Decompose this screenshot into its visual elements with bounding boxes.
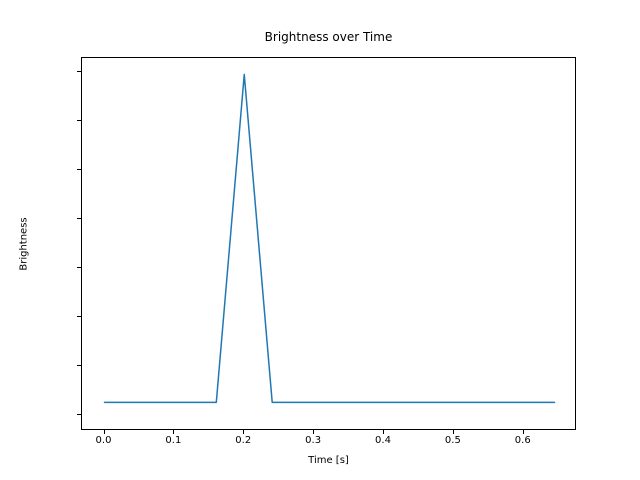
x-tick-label: 0.0 [74,436,134,446]
x-tick-label: 0.6 [493,436,553,446]
plot-area [81,57,576,430]
x-tick-mark [313,430,314,434]
x-tick-label: 0.5 [423,436,483,446]
x-axis-label: Time [s] [81,455,576,467]
x-tick-mark [383,430,384,434]
x-tick-mark [523,430,524,434]
y-axis-label: Brightness [17,58,33,431]
chart-title: Brightness over Time [81,30,576,44]
line-series-svg [82,58,577,431]
x-tick-mark [453,430,454,434]
chart-figure: Brightness over Time Brightness Time [s]… [0,0,640,480]
brightness-line [105,74,555,402]
x-tick-label: 0.3 [283,436,343,446]
x-tick-label: 0.2 [213,436,273,446]
x-tick-label: 0.1 [143,436,203,446]
x-tick-mark [243,430,244,434]
x-tick-label: 0.4 [353,436,413,446]
x-tick-mark [173,430,174,434]
x-tick-mark [104,430,105,434]
